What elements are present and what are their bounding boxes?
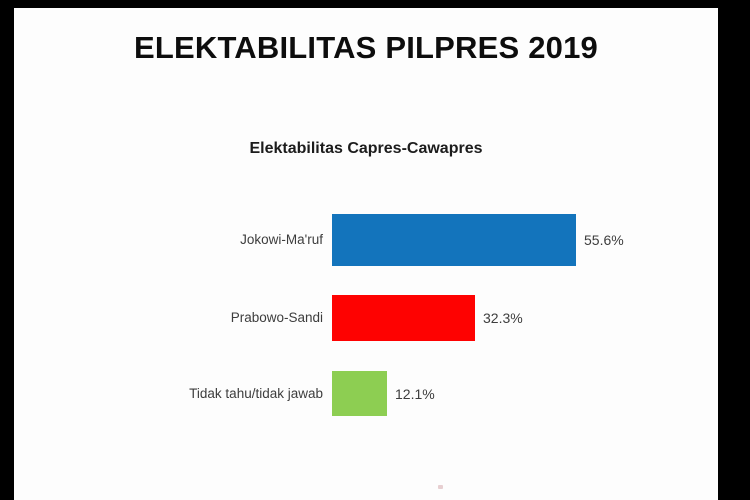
bar-tidak-tahu-tidak-jawab bbox=[332, 371, 387, 416]
bar-category-label: Prabowo-Sandi bbox=[14, 311, 332, 325]
bar-prabowo-sandi bbox=[332, 295, 475, 341]
compression-artifact bbox=[438, 485, 443, 489]
slide-canvas: ELEKTABILITAS PILPRES 2019 Elektabilitas… bbox=[14, 8, 718, 500]
bar-value-label: 55.6% bbox=[576, 233, 624, 247]
bar-value-label: 32.3% bbox=[475, 311, 523, 325]
bar-row: Jokowi-Ma'ruf 55.6% bbox=[14, 214, 718, 266]
bar-value-label: 12.1% bbox=[387, 387, 435, 401]
bar-chart-plot-area: Jokowi-Ma'ruf 55.6% Prabowo-Sandi 32.3% … bbox=[14, 8, 718, 500]
bar-jokowi-maruf bbox=[332, 214, 576, 266]
bar-category-label: Tidak tahu/tidak jawab bbox=[14, 387, 332, 401]
bar-row: Prabowo-Sandi 32.3% bbox=[14, 295, 718, 341]
bar-with-value: 55.6% bbox=[332, 214, 624, 266]
bar-row: Tidak tahu/tidak jawab 12.1% bbox=[14, 371, 718, 416]
bar-category-label: Jokowi-Ma'ruf bbox=[14, 233, 332, 247]
video-letterbox-frame: ELEKTABILITAS PILPRES 2019 Elektabilitas… bbox=[0, 0, 750, 500]
bar-with-value: 12.1% bbox=[332, 371, 435, 416]
bar-with-value: 32.3% bbox=[332, 295, 523, 341]
